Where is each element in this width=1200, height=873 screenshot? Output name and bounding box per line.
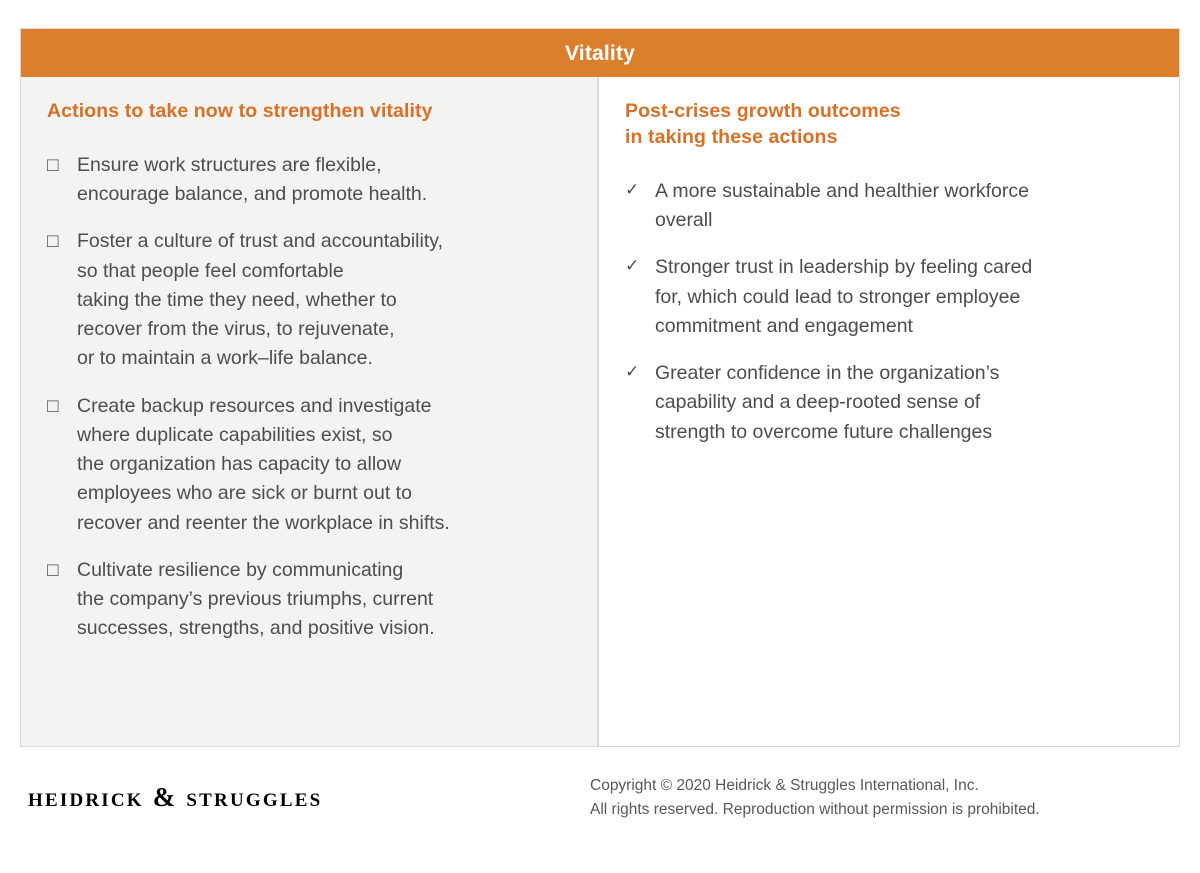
list-item-text: Greater confidence in the organization’s…	[655, 359, 1153, 447]
actions-list: □ Ensure work structures are flexible, e…	[47, 151, 571, 644]
left-column-heading: Actions to take now to strengthen vitali…	[47, 99, 571, 125]
list-item: □ Cultivate resilience by communicating …	[47, 556, 571, 644]
list-item-text: A more sustainable and healthier workfor…	[655, 177, 1153, 236]
checkbox-empty-icon: □	[47, 556, 77, 585]
list-item: ✓ Greater confidence in the organization…	[625, 359, 1153, 447]
checkbox-empty-icon: □	[47, 227, 77, 256]
left-column-actions: Actions to take now to strengthen vitali…	[21, 77, 599, 746]
list-item-text: Ensure work structures are flexible, enc…	[77, 151, 571, 210]
page-root: Vitality Actions to take now to strength…	[0, 0, 1200, 873]
list-item: □ Foster a culture of trust and accounta…	[47, 227, 571, 373]
checkmark-icon: ✓	[625, 359, 655, 385]
right-column-outcomes: Post-crises growth outcomes in taking th…	[599, 77, 1179, 746]
copyright-notice: Copyright © 2020 Heidrick & Struggles In…	[590, 774, 1180, 822]
list-item-text: Create backup resources and investigate …	[77, 392, 571, 538]
right-column-heading-line-1: Post-crises growth outcomes	[625, 99, 1153, 125]
heidrick-struggles-logo: Heidrick & Struggles	[20, 782, 322, 813]
right-column-heading-line-2: in taking these actions	[625, 125, 1153, 151]
card-header: Vitality	[21, 29, 1179, 77]
checkbox-empty-icon: □	[47, 151, 77, 180]
list-item: □ Ensure work structures are flexible, e…	[47, 151, 571, 210]
outcomes-list: ✓ A more sustainable and healthier workf…	[625, 177, 1153, 447]
copyright-line-2: All rights reserved. Reproduction withou…	[590, 798, 1180, 822]
copyright-line-1: Copyright © 2020 Heidrick & Struggles In…	[590, 774, 1180, 798]
list-item: ✓ A more sustainable and healthier workf…	[625, 177, 1153, 236]
right-column-heading: Post-crises growth outcomes in taking th…	[625, 99, 1153, 151]
list-item-text: Cultivate resilience by communicating th…	[77, 556, 571, 644]
page-title: Vitality	[565, 43, 635, 64]
list-item: ✓ Stronger trust in leadership by feelin…	[625, 253, 1153, 341]
list-item-text: Foster a culture of trust and accountabi…	[77, 227, 571, 373]
checkbox-empty-icon: □	[47, 392, 77, 421]
page-footer: Heidrick & Struggles Copyright © 2020 He…	[20, 770, 1180, 850]
list-item-text: Stronger trust in leadership by feeling …	[655, 253, 1153, 341]
checkmark-icon: ✓	[625, 177, 655, 203]
card-body: Actions to take now to strengthen vitali…	[21, 77, 1179, 746]
vitality-card: Vitality Actions to take now to strength…	[20, 28, 1180, 747]
left-column-heading-line: Actions to take now to strengthen vitali…	[47, 99, 571, 125]
list-item: □ Create backup resources and investigat…	[47, 392, 571, 538]
checkmark-icon: ✓	[625, 253, 655, 279]
